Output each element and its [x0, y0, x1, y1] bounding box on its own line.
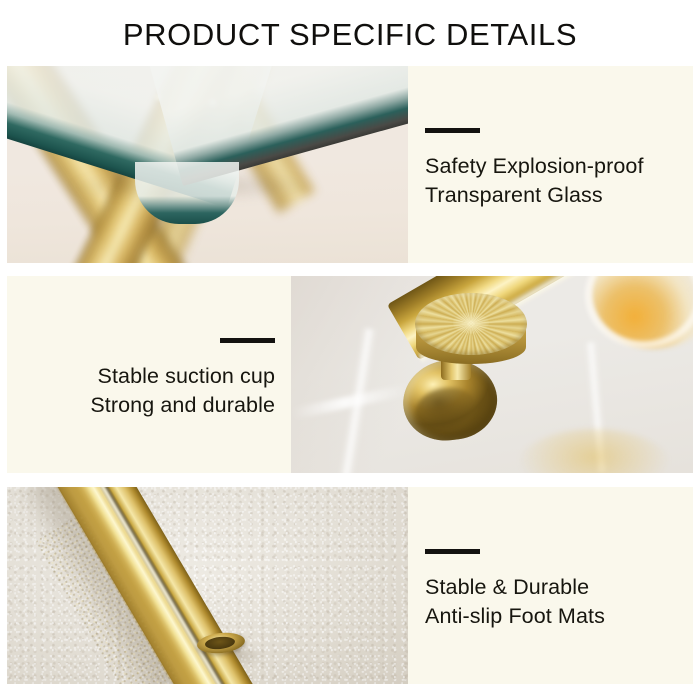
glass-caption-line-1: Safety Explosion-proof — [425, 152, 693, 181]
suction-cup-foot-photo — [291, 276, 693, 473]
product-details-infographic: PRODUCT SPECIFIC DETAILS Safety Explosio… — [0, 0, 700, 700]
foot-mat-caption-block: Stable & Durable Anti-slip Foot Mats — [408, 487, 693, 684]
foot-mat-caption-line-2: Anti-slip Foot Mats — [425, 602, 693, 631]
foot-mat-photo-canvas — [7, 487, 408, 684]
glass-tabletop-corner-photo — [7, 66, 408, 263]
foot-mat-caption-line-1: Stable & Durable — [425, 573, 693, 602]
glass-caption: Safety Explosion-proof Transparent Glass — [425, 152, 693, 210]
glass-caption-line-2: Transparent Glass — [425, 181, 693, 210]
glass-caption-block: Safety Explosion-proof Transparent Glass — [408, 66, 693, 263]
anti-slip-foot-mat-photo — [7, 487, 408, 684]
page-title: PRODUCT SPECIFIC DETAILS — [0, 16, 700, 54]
suction-cup-caption-line-1: Stable suction cup — [7, 362, 275, 391]
detail-panel-glass: Safety Explosion-proof Transparent Glass — [7, 66, 693, 263]
suction-cup-caption-block: Stable suction cup Strong and durable — [7, 276, 291, 473]
caption-divider-rule — [425, 128, 480, 133]
suction-cup-caption-line-2: Strong and durable — [7, 391, 275, 420]
detail-panel-suction-cup: Stable suction cup Strong and durable — [7, 276, 693, 473]
glass-photo-canvas — [7, 66, 408, 263]
suction-cup-cap-center-highlight — [453, 312, 489, 334]
caption-divider-rule — [220, 338, 275, 343]
suction-cup-photo-canvas — [291, 276, 693, 473]
caption-divider-rule — [425, 549, 480, 554]
foot-mat-caption: Stable & Durable Anti-slip Foot Mats — [425, 573, 693, 631]
detail-panel-foot-mat: Stable & Durable Anti-slip Foot Mats — [7, 487, 693, 684]
suction-cup-caption: Stable suction cup Strong and durable — [7, 362, 275, 420]
